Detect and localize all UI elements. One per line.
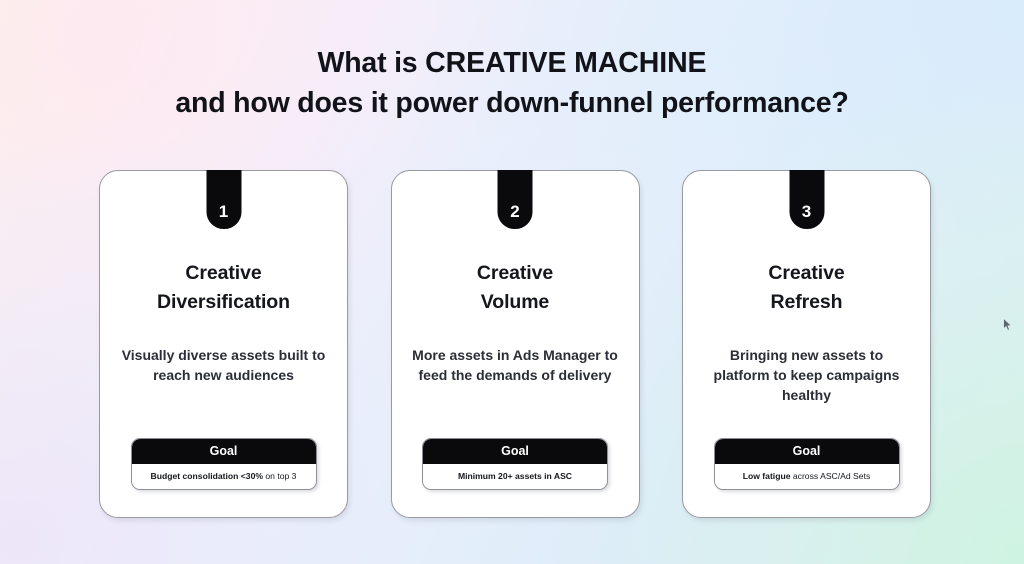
card-goal-text-strong: Minimum 20+ assets in ASC (458, 471, 572, 481)
card-description: Bringing new assets to platform to keep … (683, 346, 930, 406)
card-goal-header: Goal (132, 439, 316, 464)
card-description: Visually diverse assets built to reach n… (100, 346, 347, 386)
card-number-badge: 2 (498, 170, 533, 229)
pillar-card-3[interactable]: 3 Creative Refresh Bringing new assets t… (682, 170, 931, 518)
card-title-line-2: Volume (477, 288, 553, 317)
card-goal-text: Budget consolidation <30% on top 3 (132, 464, 316, 489)
slide-heading: What is CREATIVE MACHINE and how does it… (0, 46, 1024, 122)
card-goal-text-rest: on top 3 (263, 471, 296, 481)
pillar-card-1[interactable]: 1 Creative Diversification Visually dive… (99, 170, 348, 518)
card-description: More assets in Ads Manager to feed the d… (392, 346, 639, 386)
card-title-line-1: Creative (477, 259, 553, 288)
card-number-badge: 3 (789, 170, 824, 229)
card-number-label: 3 (802, 203, 811, 220)
card-title: Creative Volume (463, 259, 567, 316)
card-goal-box: Goal Minimum 20+ assets in ASC (422, 438, 608, 490)
card-goal-box: Goal Budget consolidation <30% on top 3 (131, 438, 317, 490)
pillar-card-list: 1 Creative Diversification Visually dive… (99, 170, 931, 520)
heading-prefix: What is (318, 47, 426, 79)
card-title-line-2: Diversification (157, 288, 290, 317)
card-title-line-2: Refresh (768, 288, 844, 317)
card-title: Creative Diversification (143, 259, 304, 316)
slide-canvas: What is CREATIVE MACHINE and how does it… (0, 0, 1024, 564)
pillar-card-2[interactable]: 2 Creative Volume More assets in Ads Man… (391, 170, 640, 518)
heading-line-1: What is CREATIVE MACHINE (0, 46, 1024, 82)
heading-emphasis: CREATIVE MACHINE (425, 47, 706, 79)
card-goal-text: Minimum 20+ assets in ASC (423, 464, 607, 489)
card-goal-header: Goal (715, 439, 899, 464)
card-number-label: 2 (510, 203, 519, 220)
card-number-badge: 1 (206, 170, 241, 229)
card-goal-text-strong: Budget consolidation <30% (151, 471, 263, 481)
card-goal-text: Low fatigue across ASC/Ad Sets (715, 464, 899, 489)
card-number-label: 1 (219, 203, 228, 220)
card-goal-text-strong: Low fatigue (743, 471, 791, 481)
card-title: Creative Refresh (754, 259, 858, 316)
card-goal-header: Goal (423, 439, 607, 464)
heading-line-2: and how does it power down-funnel perfor… (0, 86, 1024, 122)
card-goal-text-rest: across ASC/Ad Sets (790, 471, 870, 481)
mouse-cursor-icon (1003, 318, 1012, 331)
card-goal-box: Goal Low fatigue across ASC/Ad Sets (714, 438, 900, 490)
card-title-line-1: Creative (768, 259, 844, 288)
card-title-line-1: Creative (157, 259, 290, 288)
